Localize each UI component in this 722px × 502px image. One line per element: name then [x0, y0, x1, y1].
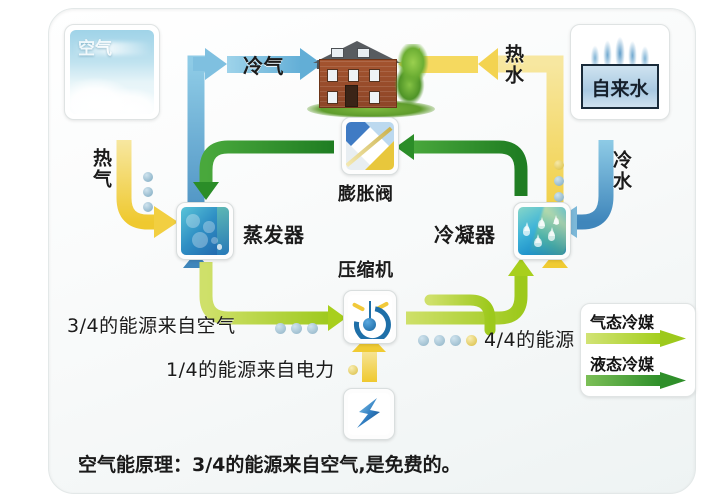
lightning-bolt-icon[interactable] — [343, 388, 395, 440]
total-energy-dot — [466, 335, 477, 346]
water-energy-dot — [554, 160, 564, 170]
compressor-label: 压缩机 — [338, 256, 394, 282]
evaporator-icon[interactable] — [176, 202, 234, 260]
water-energy-dot — [554, 192, 564, 202]
energy-from-air-label: 3/4的能源来自空气 — [67, 311, 236, 338]
lightning-glyph — [349, 394, 389, 434]
air-share-dot — [291, 323, 302, 334]
air-energy-dot — [143, 172, 153, 182]
cold-water-label: 冷水 — [608, 150, 635, 192]
tap-water-photo — [576, 30, 664, 114]
air-share-dot — [307, 323, 318, 334]
total-energy-label: 4/4的能源 — [484, 325, 575, 352]
evaporator-label: 蒸发器 — [243, 219, 305, 248]
electric-share-dot — [348, 365, 358, 375]
water-energy-dot — [554, 176, 564, 186]
hot-air-label: 热气 — [88, 148, 115, 190]
house-illustration — [305, 22, 437, 118]
diagram-canvas: 空气 自来水 冷气 热气 热水 冷水 — [0, 0, 722, 502]
legend-arrow-gas — [586, 329, 690, 347]
total-energy-dot — [434, 335, 445, 346]
expansion-valve-icon[interactable] — [341, 117, 399, 175]
air-image-tile: 空气 — [64, 24, 160, 120]
expansion-valve-label: 膨胀阀 — [338, 180, 394, 206]
condenser-label: 冷凝器 — [434, 219, 496, 248]
legend-arrow-liquid — [586, 371, 690, 389]
air-energy-dot — [143, 202, 153, 212]
air-tile-label: 空气 — [78, 34, 112, 59]
tap-water-tile-label: 自来水 — [576, 74, 664, 101]
total-energy-dot — [418, 335, 429, 346]
total-energy-dot — [450, 335, 461, 346]
air-energy-dot — [143, 187, 153, 197]
legend-box: 气态冷媒 液态冷媒 — [580, 303, 696, 397]
tap-water-image-tile: 自来水 — [570, 24, 670, 120]
compressor-icon[interactable] — [343, 290, 397, 344]
air-share-dot — [275, 323, 286, 334]
energy-from-electricity-label: 1/4的能源来自电力 — [166, 355, 335, 382]
hot-water-label: 热水 — [500, 44, 527, 86]
condenser-icon[interactable] — [513, 202, 571, 260]
cold-air-label: 冷气 — [243, 50, 284, 79]
diagram-caption: 空气能原理：3/4的能源来自空气,是免费的。 — [78, 450, 461, 477]
